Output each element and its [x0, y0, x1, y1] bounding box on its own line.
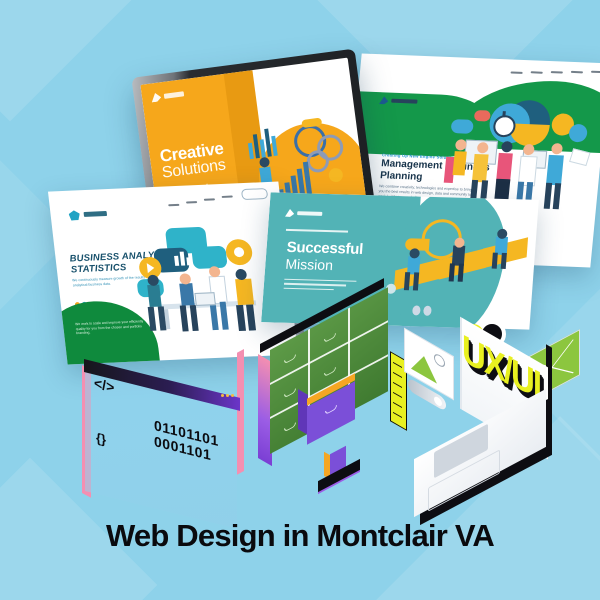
code-browser-window-icon: </> {} 01101101 0001101 [82, 355, 242, 495]
drawer-handle[interactable] [284, 388, 296, 398]
nav-dash [531, 71, 543, 73]
brand-logo [68, 209, 109, 221]
nav-dash [551, 71, 563, 73]
nav-dash [186, 201, 197, 203]
poster-canvas: Creating Up New Engine Solution Manageme… [0, 0, 600, 600]
nav-dash [511, 71, 523, 73]
nav-dash [591, 71, 600, 73]
filing-cabinet-monitor-icon [250, 338, 400, 488]
brand-logo [285, 209, 326, 218]
page-indicator-dots[interactable] [412, 302, 435, 321]
window-control-dots[interactable] [219, 384, 234, 402]
mission-text-lines [283, 279, 356, 294]
drawer-handle[interactable] [324, 367, 336, 377]
ux-ui-laptop-icon: UX/UI [390, 320, 580, 495]
background-chevron-2 [0, 0, 151, 121]
brand-logo [379, 96, 422, 106]
braces-glyph: {} [96, 430, 106, 448]
successful-mission-screen: Successful Mission [261, 192, 539, 329]
nav-dash [571, 71, 583, 73]
open-drawer-handle[interactable] [325, 405, 337, 415]
mission-heading-light: Mission [285, 256, 334, 273]
search-box[interactable] [241, 188, 268, 200]
nav-dash [168, 204, 179, 206]
mission-illustration [374, 212, 532, 320]
mountain-shape [411, 349, 437, 384]
nav-dash [222, 196, 233, 198]
window-frame-right [237, 349, 244, 475]
mission-heading-bold: Successful [286, 239, 364, 258]
drawer-handle[interactable] [284, 422, 296, 432]
nav-dash [204, 198, 215, 200]
drawer-handle[interactable] [284, 354, 296, 364]
page-title: Web Design in Montclair VA [0, 518, 600, 554]
drawer-handle[interactable] [324, 333, 336, 343]
